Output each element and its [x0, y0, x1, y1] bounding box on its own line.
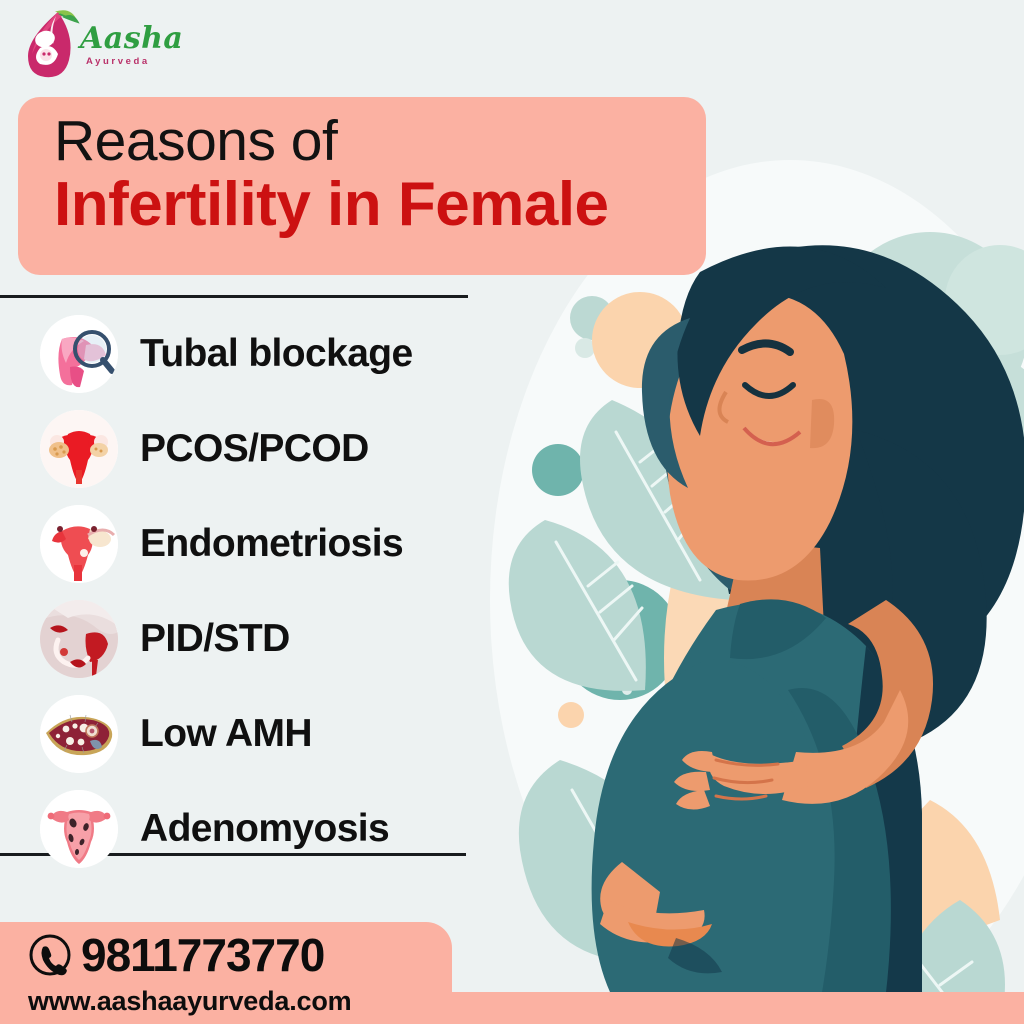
- aasha-teardrop-mother-child-logo: [22, 10, 84, 78]
- list-item[interactable]: PID/STD: [40, 591, 510, 686]
- divider-top: [0, 295, 468, 298]
- phone-circle-icon: [28, 933, 72, 977]
- title-line-1: Reasons of: [54, 112, 337, 172]
- list-item[interactable]: Low AMH: [40, 686, 510, 781]
- endometriosis-icon: [40, 505, 118, 583]
- list-item[interactable]: Tubal blockage: [40, 306, 510, 401]
- list-item[interactable]: Adenomyosis: [40, 781, 510, 876]
- list-item-label: Endometriosis: [140, 522, 403, 566]
- phone-contact[interactable]: 9811773770: [28, 932, 324, 978]
- list-item-label: Tubal blockage: [140, 332, 413, 376]
- list-item[interactable]: PCOS/PCOD: [40, 401, 510, 496]
- list-item-label: Low AMH: [140, 712, 312, 756]
- pid-std-icon: [40, 600, 118, 678]
- list-item-label: PCOS/PCOD: [140, 427, 369, 471]
- list-item-label: PID/STD: [140, 617, 290, 661]
- pcos-pcod-icon: [40, 410, 118, 488]
- brand-logo[interactable]: Aasha Ayurveda: [22, 8, 192, 80]
- adenomyosis-icon: [40, 790, 118, 868]
- tubal-blockage-icon: [40, 315, 118, 393]
- brand-name: Aasha: [80, 24, 183, 54]
- poster-canvas: Aasha Ayurveda Reasons of Infertility in…: [0, 0, 1024, 1024]
- list-item-label: Adenomyosis: [140, 807, 389, 851]
- brand-tagline: Ayurveda: [86, 56, 183, 67]
- title-banner: Reasons of Infertility in Female: [18, 97, 706, 275]
- website-url[interactable]: www.aashaayurveda.com: [28, 986, 351, 1017]
- low-amh-ovary-icon: [40, 695, 118, 773]
- list-item[interactable]: Endometriosis: [40, 496, 510, 591]
- title-line-2: Infertility in Female: [54, 172, 609, 237]
- phone-number: 9811773770: [81, 932, 324, 978]
- reasons-list: Tubal blockage: [40, 306, 510, 876]
